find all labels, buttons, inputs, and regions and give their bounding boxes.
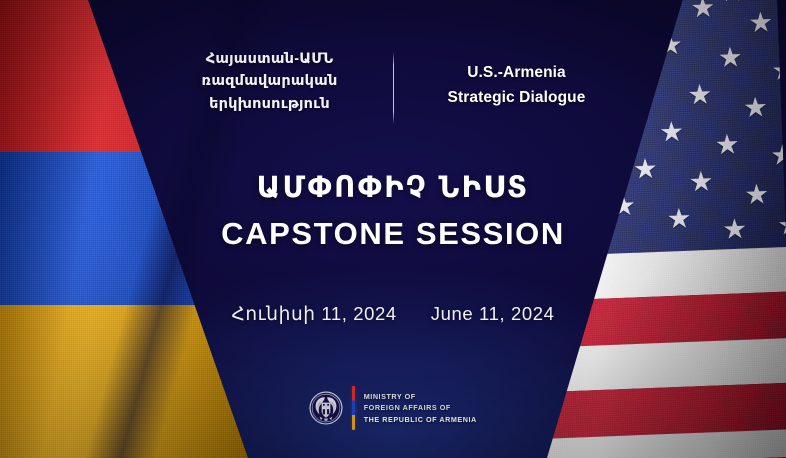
header-armenian-line-2: ռազմավարական <box>165 70 375 92</box>
ministry-line-1: MINISTRY OF <box>364 391 477 403</box>
header-english-block: U.S.-Armenia Strategic Dialogue <box>412 48 622 111</box>
banner-header: Հայաստան-ԱՄՆ ռազմավարական երկխոսություն … <box>0 48 786 124</box>
event-dates: Հունիսի 11, 2024 June 11, 2024 <box>0 303 786 325</box>
banner-content: Հայաստան-ԱՄՆ ռազմավարական երկխոսություն … <box>0 0 786 458</box>
armenia-coat-of-arms-icon <box>309 391 343 425</box>
event-title-english: CAPSTONE SESSION <box>0 216 786 252</box>
ministry-logo-lockup: MINISTRY OF FOREIGN AFFAIRS OF THE REPUB… <box>0 386 786 430</box>
ministry-name: MINISTRY OF FOREIGN AFFAIRS OF THE REPUB… <box>364 391 477 426</box>
header-armenian-line-3: երկխոսություն <box>165 93 375 115</box>
header-english-line-2: Strategic Dialogue <box>412 86 622 111</box>
header-english-text: U.S.-Armenia Strategic Dialogue <box>412 48 622 111</box>
header-armenian-text: Հայաստան-ԱՄՆ ռազմավարական երկխոսություն <box>165 48 375 115</box>
event-date-armenian: Հունիսի 11, 2024 <box>232 303 397 325</box>
header-armenian-block: Հայաստան-ԱՄՆ ռազմավարական երկխոսություն <box>165 48 375 115</box>
event-title: ԱՄՓՈՓԻՉ ՆԻՍՏ CAPSTONE SESSION <box>0 170 786 252</box>
armenia-tricolor-divider <box>352 386 355 430</box>
header-english-line-1: U.S.-Armenia <box>412 61 622 86</box>
header-armenian-line-1: Հայաստան-ԱՄՆ <box>165 48 375 70</box>
ministry-line-3: THE REPUBLIC OF ARMENIA <box>364 414 477 426</box>
ministry-line-2: FOREIGN AFFAIRS OF <box>364 402 477 414</box>
event-date-english: June 11, 2024 <box>431 303 555 325</box>
event-title-armenian: ԱՄՓՈՓԻՉ ՆԻՍՏ <box>0 170 786 205</box>
event-banner: ★ ★ ★ ★ ★ ★ ★ ★ ★ ★ ★ ★ ★ ★ ★ ★ ★ ★ ★ ★ … <box>0 0 786 458</box>
header-divider <box>393 52 394 124</box>
